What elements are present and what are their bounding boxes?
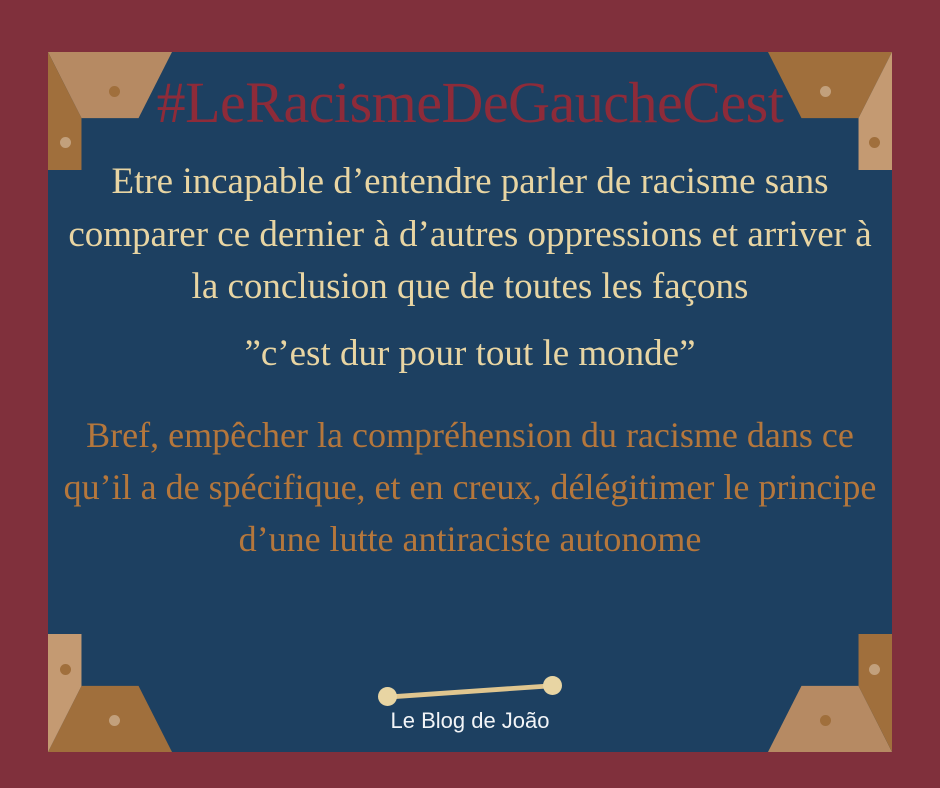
divider-dot-right-icon [543, 676, 562, 695]
primary-stanza: Etre incapable d’entendre parler de raci… [48, 156, 892, 314]
divider-ornament [378, 680, 562, 706]
quote-poster: #LeRacismeDeGaucheCest Etre incapable d’… [0, 0, 940, 788]
secondary-stanza: Bref, empêcher la compréhension du racis… [48, 410, 892, 565]
hashtag-headline: #LeRacismeDeGaucheCest [48, 52, 892, 132]
divider-bar [386, 682, 554, 702]
poster-footer: Le Blog de João [48, 680, 892, 734]
divider-dot-left-icon [378, 687, 397, 706]
blog-credit: Le Blog de João [48, 708, 892, 734]
poster-content: #LeRacismeDeGaucheCest Etre incapable d’… [48, 52, 892, 752]
quoted-phrase: ”c’est dur pour tout le monde” [48, 328, 892, 381]
